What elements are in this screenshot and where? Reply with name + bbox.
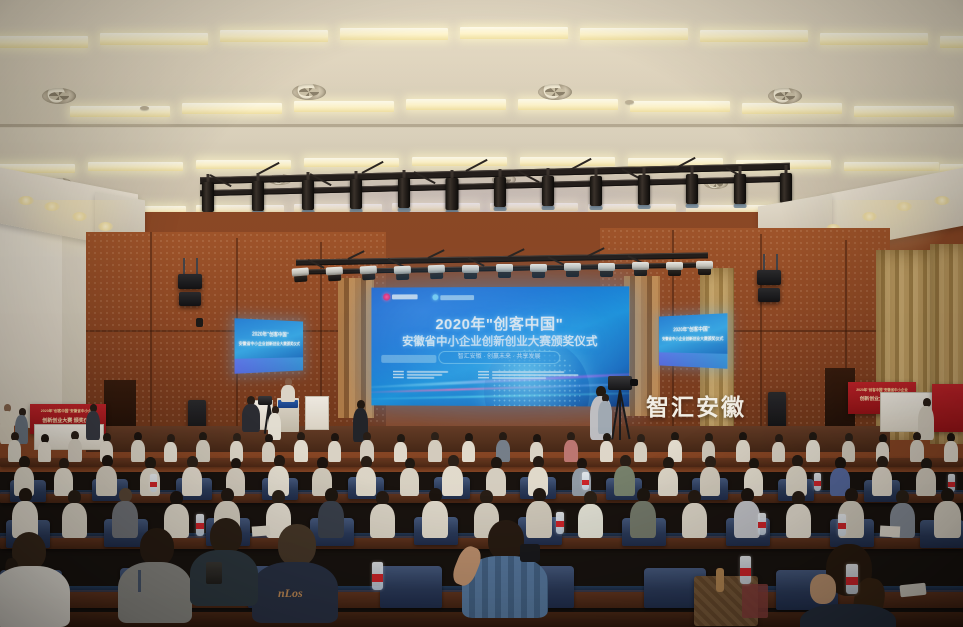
stage-light <box>540 168 556 208</box>
hanging-speaker <box>178 274 202 289</box>
hanging-speaker <box>179 292 201 306</box>
par-light <box>696 261 713 275</box>
hanging-speaker <box>758 288 780 302</box>
wall-camera <box>196 318 203 327</box>
par-light <box>462 265 479 279</box>
par-light <box>564 263 581 277</box>
side-screen-left: 2020年"创客中国" 安徽省中小企业创新创业大赛颁奖仪式 <box>235 318 304 374</box>
handbag-strap <box>716 568 724 592</box>
par-light <box>326 267 344 282</box>
water-bottle <box>372 562 383 590</box>
audience-front-grey <box>118 528 192 623</box>
stage-light <box>444 170 460 212</box>
stage-light <box>684 166 700 206</box>
par-light <box>360 266 378 281</box>
ceiling-vent <box>538 84 572 100</box>
ceiling-vent <box>768 88 802 104</box>
hanging-speaker <box>757 270 781 285</box>
ceiling-light-row-2 <box>0 92 963 118</box>
screen-organizer-block <box>393 371 448 380</box>
audience-row-front: nLos <box>0 528 963 627</box>
lighting-truss-rear <box>296 250 708 290</box>
side-screen-right: 2020年"创客中国" 安徽省中小企业创新创业大赛颁奖仪式 <box>659 313 728 369</box>
stage-light <box>732 166 748 206</box>
stage-light <box>348 171 364 211</box>
screen-subtitle: 安徽省中小企业创新创业大赛颁奖仪式 <box>371 333 629 349</box>
stage-speaker <box>281 378 295 402</box>
water-bottle <box>740 556 751 584</box>
ceiling-vent <box>292 84 326 100</box>
stage-light <box>492 169 508 209</box>
hand <box>810 574 836 604</box>
stage-light <box>300 172 316 212</box>
par-light <box>530 264 547 278</box>
thermos-cup <box>206 562 222 584</box>
screen-accent-bar <box>381 355 436 363</box>
shirt-graphic-text: nLos <box>278 586 322 598</box>
ceiling-seam-1 <box>0 124 963 127</box>
screen-organizer-block <box>478 371 578 380</box>
conference-hall-photo: 2020年"创客中国" 安徽省中小企业创新创业大赛颁奖仪式 智汇安徽 · 创赢未… <box>0 0 963 627</box>
side-screen-right-title: 2020年"创客中国" <box>659 325 728 334</box>
par-light <box>666 262 683 276</box>
stage-light <box>636 167 652 207</box>
par-light <box>632 262 649 276</box>
par-light <box>428 265 445 280</box>
ceiling-light-row-1 <box>0 20 963 46</box>
side-screen-left-title: 2020年"创客中国" <box>235 330 304 339</box>
side-screen-right-subtitle: 安徽省中小企业创新创业大赛颁奖仪式 <box>659 336 728 342</box>
side-screen-left-subtitle: 安徽省中小企业创新创业大赛颁奖仪式 <box>235 341 304 347</box>
audience-front-teal <box>190 518 258 606</box>
audience-front-plaid <box>462 520 548 618</box>
stage-light <box>250 173 266 213</box>
ceiling-vent <box>42 88 76 104</box>
par-light <box>394 266 411 281</box>
handbag-side <box>742 584 768 618</box>
stage-light <box>778 165 794 205</box>
lanyard <box>138 570 141 592</box>
video-camera-right <box>608 376 632 390</box>
stage-light <box>396 170 412 210</box>
stage-light <box>200 174 216 214</box>
wall-sign-text: 智汇安徽 <box>646 388 746 422</box>
smoke-detector <box>140 106 149 110</box>
camera-lens-icon <box>630 379 638 386</box>
lighting-truss-front <box>200 160 790 220</box>
stage-curtain-left <box>338 278 374 418</box>
screen-tagline-pill: 智汇安徽 · 创赢未来 · 共享发展 <box>438 351 560 364</box>
smartphone <box>520 544 540 562</box>
par-light <box>598 263 615 277</box>
logo-chuangke-icon <box>383 293 417 300</box>
screen-title: 2020年"创客中国" <box>371 313 629 334</box>
smoke-detector <box>625 100 634 104</box>
par-light <box>292 267 310 282</box>
stage-light <box>588 168 604 208</box>
audience-front-navy: nLos <box>252 524 338 623</box>
logo-sponsor-icon <box>432 294 474 300</box>
water-bottle <box>846 564 858 594</box>
audience-front-left <box>0 532 70 627</box>
par-light <box>496 264 513 278</box>
